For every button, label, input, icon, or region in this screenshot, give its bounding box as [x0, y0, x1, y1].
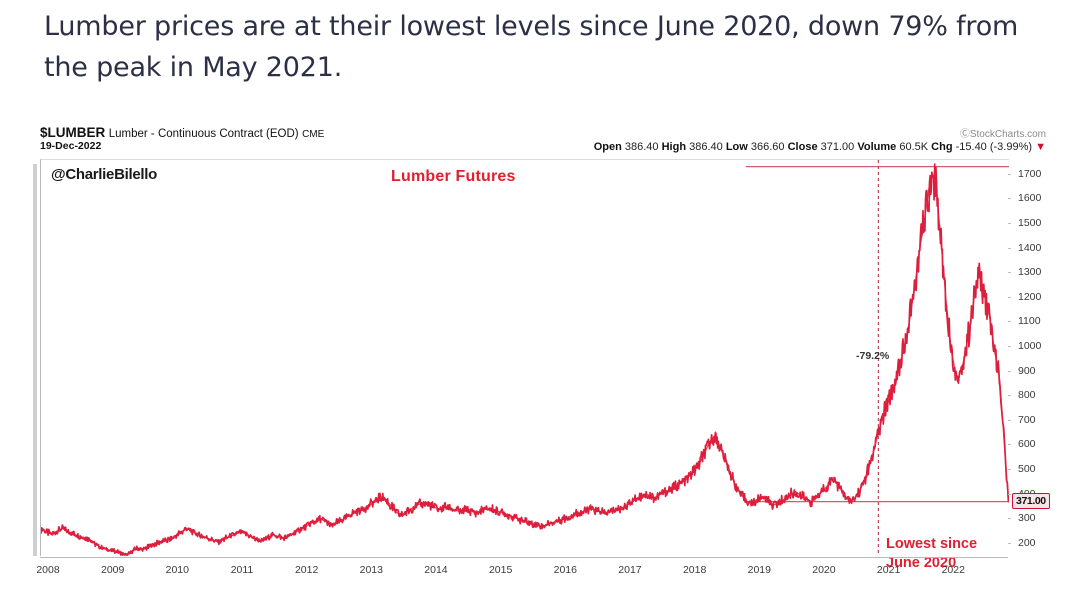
author-watermark: @CharlieBilello: [51, 166, 157, 183]
y-tick-label: 1600: [1018, 192, 1041, 204]
x-tick-label: 2010: [166, 564, 189, 576]
ohlc-quote-bar: Open 386.40 High 386.40 Low 366.60 Close…: [594, 141, 1046, 153]
y-tick-label: 1000: [1018, 340, 1041, 352]
last-price-tag: 371.00: [1012, 493, 1050, 509]
y-tick-label: 600: [1018, 438, 1036, 450]
lumber-price-noise: [41, 175, 1008, 556]
watermark-text: StockCharts.com: [970, 129, 1046, 140]
y-tick-mark: [1008, 494, 1011, 495]
y-tick-label: 1500: [1018, 217, 1041, 229]
x-tick-label: 2013: [360, 564, 383, 576]
price-plot-area[interactable]: @CharlieBilello Lumber Futures -79.2% Lo…: [40, 159, 1009, 556]
instrument-name: Lumber - Continuous Contract (EOD): [109, 128, 299, 140]
y-tick-mark: [1008, 469, 1011, 470]
x-tick-label: 2021: [877, 564, 900, 576]
y-tick-label: 800: [1018, 389, 1036, 401]
y-tick-mark: [1008, 371, 1011, 372]
x-tick-label: 2016: [554, 564, 577, 576]
chart-header: $LUMBER Lumber - Continuous Contract (EO…: [32, 125, 1048, 159]
y-tick-label: 200: [1018, 537, 1036, 549]
drawdown-annotation: -79.2%: [856, 350, 889, 362]
page-title: Lumber prices are at their lowest levels…: [44, 6, 1044, 88]
y-tick-mark: [1008, 321, 1011, 322]
y-tick-mark: [1008, 248, 1011, 249]
x-tick-label: 2014: [424, 564, 447, 576]
x-tick-label: 2012: [295, 564, 318, 576]
y-tick-label: 900: [1018, 365, 1036, 377]
y-tick-mark: [1008, 272, 1011, 273]
x-tick-label: 2018: [683, 564, 706, 576]
low-value: 366.60: [751, 141, 785, 153]
x-tick-label: 2011: [231, 564, 254, 576]
x-tick-label: 2022: [942, 564, 965, 576]
high-label: High: [662, 141, 686, 153]
y-tick-mark: [1008, 395, 1011, 396]
chg-value: -15.40 (-3.99%): [956, 141, 1032, 153]
registered-icon: Ⓒ: [960, 129, 970, 140]
y-tick-mark: [1008, 223, 1011, 224]
chevron-down-icon[interactable]: ▼: [1035, 141, 1046, 153]
chart-title: Lumber Futures: [391, 168, 516, 186]
x-tick-label: 2017: [618, 564, 641, 576]
y-axis: 2003004005006007008009001000110012001300…: [1008, 159, 1080, 559]
open-value: 386.40: [625, 141, 659, 153]
y-tick-mark: [1008, 543, 1011, 544]
x-tick-label: 2019: [748, 564, 771, 576]
stockcharts-watermark: ⒸStockCharts.com: [960, 125, 1046, 140]
x-tick-label: 2009: [101, 564, 124, 576]
x-tick-label: 2015: [489, 564, 512, 576]
x-tick-label: 2008: [36, 564, 59, 576]
x-axis: 2008200920102011201220132014201520162017…: [40, 557, 1008, 582]
volume-label: Volume: [857, 141, 896, 153]
y-tick-mark: [1008, 174, 1011, 175]
y-tick-label: 500: [1018, 463, 1036, 475]
y-tick-label: 1300: [1018, 266, 1041, 278]
low-label: Low: [726, 141, 748, 153]
ticker-symbol: $LUMBER: [40, 125, 105, 140]
y-tick-label: 1400: [1018, 242, 1041, 254]
y-tick-mark: [1008, 297, 1011, 298]
y-tick-mark: [1008, 198, 1011, 199]
y-tick-mark: [1008, 346, 1011, 347]
y-tick-mark: [1008, 518, 1011, 519]
chg-label: Chg: [931, 141, 952, 153]
x-tick-label: 2020: [812, 564, 835, 576]
y-tick-mark: [1008, 444, 1011, 445]
chart-resize-handle[interactable]: [33, 164, 37, 556]
close-label: Close: [788, 141, 818, 153]
exchange-name: CME: [302, 129, 324, 140]
y-tick-label: 300: [1018, 512, 1036, 524]
y-tick-label: 1200: [1018, 291, 1041, 303]
y-tick-mark: [1008, 420, 1011, 421]
y-tick-label: 700: [1018, 414, 1036, 426]
close-value: 371.00: [821, 141, 855, 153]
y-tick-label: 1700: [1018, 168, 1041, 180]
y-tick-label: 1100: [1018, 315, 1041, 327]
open-label: Open: [594, 141, 622, 153]
high-value: 386.40: [689, 141, 723, 153]
symbol-line: $LUMBER Lumber - Continuous Contract (EO…: [40, 125, 324, 140]
stockcharts-chart-panel: $LUMBER Lumber - Continuous Contract (EO…: [32, 125, 1048, 585]
lowest-since-line1: Lowest since: [886, 535, 977, 554]
quote-date: 19-Dec-2022: [40, 140, 101, 152]
volume-value: 60.5K: [899, 141, 928, 153]
